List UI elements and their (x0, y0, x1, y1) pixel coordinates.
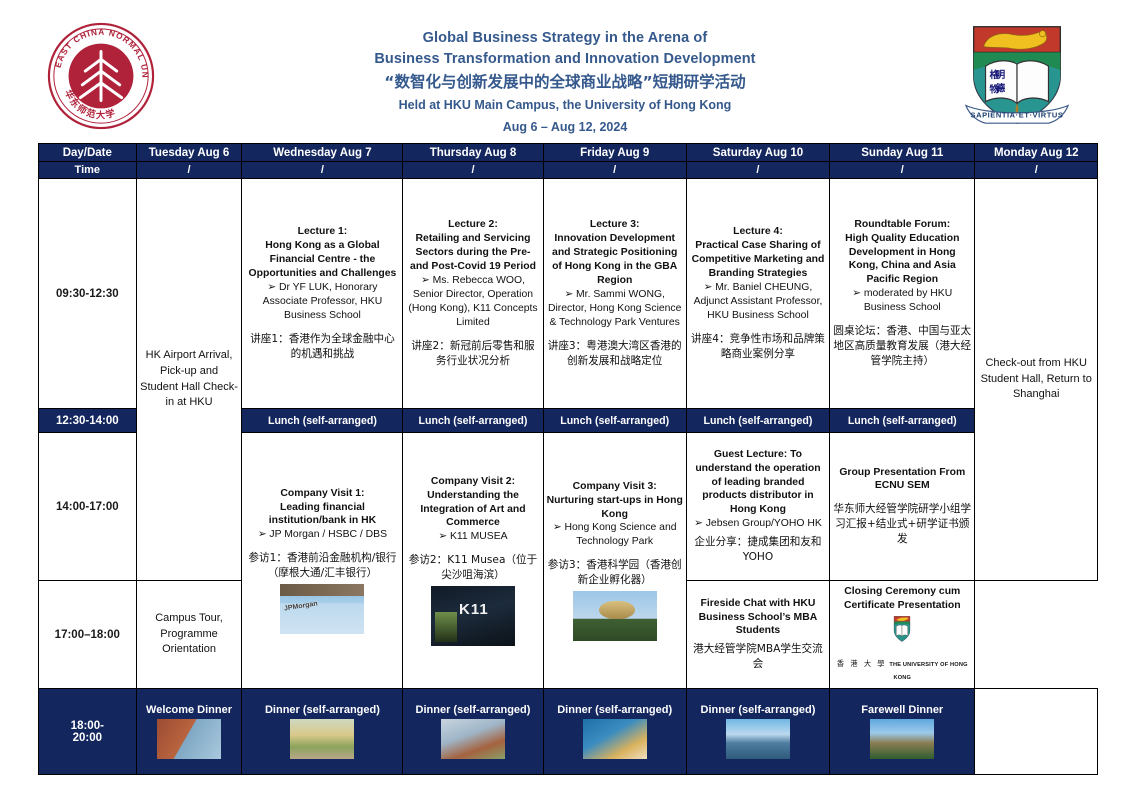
cell-sunday-closing-ceremony: Closing Ceremony cum Certificate Present… (830, 581, 975, 689)
slash-sunday: / (830, 162, 975, 179)
dinner-label: Dinner (self-arranged) (406, 704, 539, 716)
dinner-venue-photo (583, 719, 647, 759)
session-title: Roundtable Forum:High Quality Education … (833, 218, 971, 288)
time-evening-line-2: 20:00 (73, 732, 102, 744)
dinner-label: Dinner (self-arranged) (245, 704, 399, 716)
svg-text:格: 格 (989, 68, 999, 81)
cell-sunday-roundtable-forum: Roundtable Forum:High Quality Education … (830, 179, 975, 409)
schedule-table: Day/Date Tuesday Aug 6 Wednesday Aug 7 T… (38, 143, 1098, 775)
svg-text:物: 物 (989, 83, 999, 96)
session-speaker: ➢ K11 MUSEA (406, 530, 539, 544)
cell-friday-dinner: Dinner (self-arranged) (543, 689, 686, 775)
session-speaker: ➢ Hong Kong Science and Technology Park (547, 521, 683, 549)
hku-logo-with-wordmark (880, 615, 924, 657)
session-speaker: ➢ Ms. Rebecca WOO, Senior Director, Oper… (406, 274, 539, 330)
time-label-afternoon: 14:00-17:00 (39, 433, 137, 581)
session-title: Company Visit 3:Nurturing start-ups in H… (547, 480, 683, 522)
cell-saturday-dinner: Dinner (self-arranged) (686, 689, 829, 775)
session-title: Fireside Chat with HKU Business School’s… (690, 597, 826, 639)
slash-thursday: / (403, 162, 543, 179)
dinner-label: Farewell Dinner (833, 704, 971, 716)
time-label-morning: 09:30-12:30 (39, 179, 137, 409)
page-header: EAST CHINA NORMAL UNIVERSITY 华东师范大学 Glob… (0, 0, 1132, 138)
session-speaker: ➢ Jebsen Group/YOHO HK (690, 517, 826, 531)
cell-sunday-farewell-dinner: Farewell Dinner (830, 689, 975, 775)
session-speaker: ➢ Mr. Baniel CHEUNG, Adjunct Assistant P… (690, 281, 826, 323)
table-header-row: Day/Date Tuesday Aug 6 Wednesday Aug 7 T… (39, 144, 1098, 162)
cell-tuesday-campus-tour: Campus Tour, Programme Orientation (136, 581, 242, 689)
cell-wednesday-company-visit-1: Company Visit 1:Leading financial instit… (242, 433, 403, 689)
farewell-dinner-venue-photo (870, 719, 934, 759)
east-china-normal-university-logo: EAST CHINA NORMAL UNIVERSITY 华东师范大学 (42, 20, 160, 132)
hku-logo-english-name: THE UNIVERSITY OF HONG KONG (889, 662, 967, 682)
table-subheader-row: Time / / / / / / / (39, 162, 1098, 179)
cell-sunday-group-presentation: Group Presentation From ECNU SEM 华东师大经管学… (830, 433, 975, 581)
schedule-page: EAST CHINA NORMAL UNIVERSITY 华东师范大学 Glob… (0, 0, 1132, 812)
slash-wednesday: / (242, 162, 403, 179)
hku-logo-chinese-name: 香 港 大 學 (837, 659, 887, 668)
hk-science-park-photo (573, 591, 657, 641)
svg-text:SAPIENTIA·ET·VIRTUS: SAPIENTIA·ET·VIRTUS (971, 110, 1064, 119)
title-line-2: Business Transformation and Innovation D… (280, 49, 850, 70)
session-speaker: ➢ JP Morgan / HSBC / DBS (245, 528, 399, 542)
row-evening: 18:00- 20:00 Welcome Dinner Dinner (self… (39, 689, 1098, 775)
session-title-chinese: 参访1：香港前沿金融机构/银行（摩根大通/汇丰银行） (245, 551, 399, 581)
session-title-chinese: 讲座1：香港作为全球金融中心的机遇和挑战 (245, 332, 399, 362)
title-chinese: “数智化与创新发展中的全球商业战略”短期研学活动 (280, 71, 850, 94)
dinner-label: Dinner (self-arranged) (690, 704, 826, 716)
col-header-time: Time (39, 162, 137, 179)
title-line-1: Global Business Strategy in the Arena of (280, 28, 850, 49)
col-header-sunday: Sunday Aug 11 (830, 144, 975, 162)
col-header-thursday: Thursday Aug 8 (403, 144, 543, 162)
session-title-chinese: 参访3：香港科学园（香港创新企业孵化器） (547, 558, 683, 588)
session-title: Lecture 4:Practical Case Sharing of Comp… (690, 225, 826, 281)
col-header-saturday: Saturday Aug 10 (686, 144, 829, 162)
cell-thursday-dinner: Dinner (self-arranged) (403, 689, 543, 775)
dinner-venue-photo (441, 719, 505, 759)
slash-friday: / (543, 162, 686, 179)
cell-saturday-lecture-4: Lecture 4:Practical Case Sharing of Comp… (686, 179, 829, 409)
time-evening-line-1: 18:00- (71, 720, 104, 732)
col-header-tuesday: Tuesday Aug 6 (136, 144, 242, 162)
session-title-chinese: 讲座4：竞争性市场和品牌策略商业案例分享 (690, 332, 826, 362)
cell-thursday-lecture-2: Lecture 2:Retailing and Servicing Sector… (403, 179, 543, 409)
dinner-venue-photo (726, 719, 790, 759)
session-title-chinese: 讲座2：新冠前后零售和服务行业状况分析 (406, 339, 539, 369)
session-title: Group Presentation From ECNU SEM (833, 466, 971, 494)
cell-monday-evening-empty (975, 689, 1098, 775)
session-title-chinese: 参访2：K11 Musea（位于尖沙咀海滨） (406, 553, 539, 583)
venue-line: Held at HKU Main Campus, the University … (280, 96, 850, 115)
dinner-label: Welcome Dinner (140, 704, 239, 716)
time-label-late: 17:00–18:00 (39, 581, 137, 689)
col-header-day-date: Day/Date (39, 144, 137, 162)
slash-tuesday: / (136, 162, 242, 179)
welcome-dinner-venue-photo (157, 719, 221, 759)
cell-monday-checkout: Check-out from HKU Student Hall, Return … (975, 179, 1098, 581)
time-label-lunch: 12:30-14:00 (39, 409, 137, 433)
cell-friday-lunch: Lunch (self-arranged) (543, 409, 686, 433)
dinner-label: Dinner (self-arranged) (547, 704, 683, 716)
cell-saturday-lunch: Lunch (self-arranged) (686, 409, 829, 433)
cell-saturday-guest-lecture: Guest Lecture: To understand the operati… (686, 433, 829, 581)
row-morning: 09:30-12:30 HK Airport Arrival, Pick-up … (39, 179, 1098, 409)
session-title-chinese: 讲座3：粤港澳大湾区香港的创新发展和战略定位 (547, 339, 683, 369)
session-title-chinese: 企业分享：捷成集团和友和YOHO (690, 535, 826, 565)
slash-monday: / (975, 162, 1098, 179)
dates-line: Aug 6 – Aug 12, 2024 (280, 118, 850, 137)
col-header-wednesday: Wednesday Aug 7 (242, 144, 403, 162)
col-header-friday: Friday Aug 9 (543, 144, 686, 162)
session-title: Closing Ceremony cum Certificate Present… (833, 585, 971, 613)
cell-wednesday-lunch: Lunch (self-arranged) (242, 409, 403, 433)
title-block: Global Business Strategy in the Arena of… (280, 28, 850, 137)
cell-friday-company-visit-3: Company Visit 3:Nurturing start-ups in H… (543, 433, 686, 689)
session-speaker: ➢ moderated by HKU Business School (833, 287, 971, 315)
session-title: Company Visit 2:Understanding the Integr… (406, 475, 539, 531)
cell-wednesday-dinner: Dinner (self-arranged) (242, 689, 403, 775)
dinner-venue-photo (290, 719, 354, 759)
session-title: Lecture 1:Hong Kong as a Global Financia… (245, 225, 399, 281)
session-title: Lecture 3:Innovation Development and Str… (547, 218, 683, 288)
cell-thursday-lunch: Lunch (self-arranged) (403, 409, 543, 433)
slash-saturday: / (686, 162, 829, 179)
cell-wednesday-lecture-1: Lecture 1:Hong Kong as a Global Financia… (242, 179, 403, 409)
cell-thursday-company-visit-2: Company Visit 2:Understanding the Integr… (403, 433, 543, 689)
session-speaker: ➢ Dr YF LUK, Honorary Associate Professo… (245, 281, 399, 323)
jp-morgan-building-photo (280, 584, 364, 634)
cell-tuesday-welcome-dinner: Welcome Dinner (136, 689, 242, 775)
session-title-chinese: 圆桌论坛：香港、中国与亚太地区高质量教育发展（港大经管学院主持） (833, 324, 971, 369)
cell-sunday-lunch: Lunch (self-arranged) (830, 409, 975, 433)
session-title: Lecture 2:Retailing and Servicing Sector… (406, 218, 539, 274)
session-title: Company Visit 1:Leading financial instit… (245, 487, 399, 529)
cell-saturday-fireside-chat: Fireside Chat with HKU Business School’s… (686, 581, 829, 689)
cell-friday-lecture-3: Lecture 3:Innovation Development and Str… (543, 179, 686, 409)
k11-musea-photo (431, 586, 515, 646)
session-speaker: ➢ Mr. Sammi WONG, Director, Hong Kong Sc… (547, 288, 683, 330)
cell-tuesday-arrival: HK Airport Arrival, Pick-up and Student … (136, 179, 242, 581)
time-label-evening: 18:00- 20:00 (39, 689, 137, 775)
session-title: Guest Lecture: To understand the operati… (690, 448, 826, 518)
session-title-chinese: 华东师大经管学院研学小组学习汇报+结业式+研学证书颁发 (833, 502, 971, 547)
session-title-chinese: 港大经管学院MBA学生交流会 (690, 642, 826, 672)
col-header-monday: Monday Aug 12 (975, 144, 1098, 162)
university-of-hong-kong-crest: 明 德 格 物 SAPIENTIA·ET·VIRTUS (958, 18, 1076, 132)
